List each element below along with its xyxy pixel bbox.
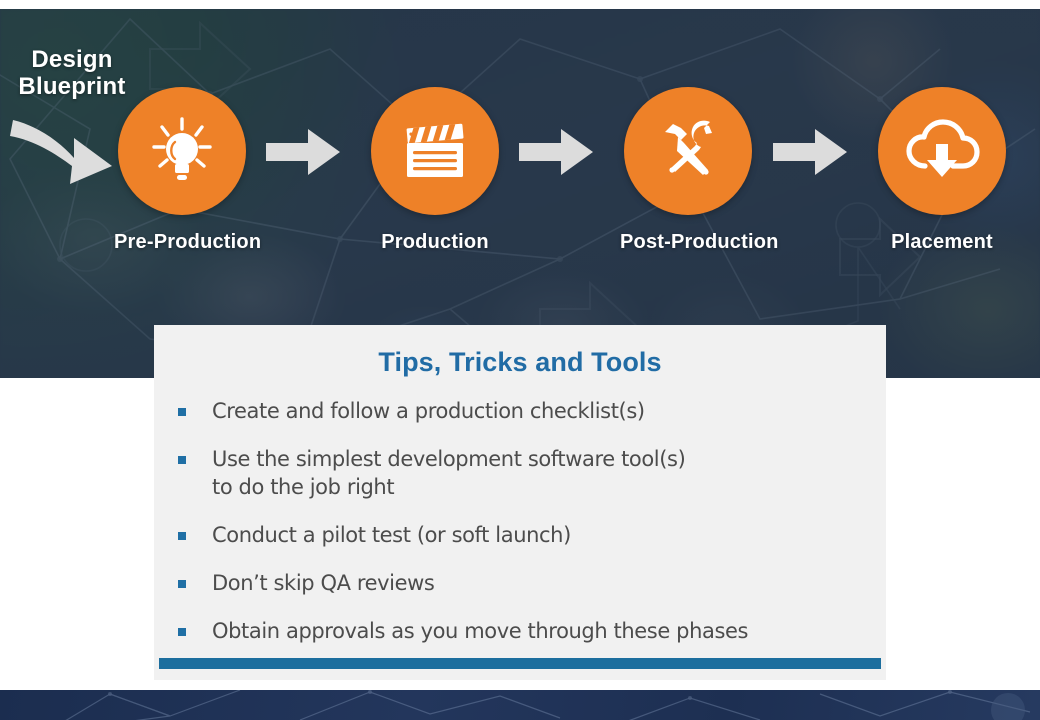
square-bullet-icon <box>178 456 186 464</box>
footer-band <box>0 690 1040 720</box>
stage-label: Post-Production <box>620 231 756 254</box>
square-bullet-icon <box>178 532 186 540</box>
hammer-wrench-icon <box>651 114 725 188</box>
stage-label: Pre-Production <box>114 231 250 254</box>
list-item-text: Don’t skip QA reviews <box>212 570 434 598</box>
list-item: Create and follow a production checklist… <box>154 398 886 426</box>
hero-banner: Design Blueprint <box>0 9 1040 378</box>
card-accent-bar <box>159 658 881 669</box>
lightbulb-icon <box>145 114 219 188</box>
stage-production[interactable]: Production <box>367 87 503 254</box>
stage-icon-circle <box>624 87 752 215</box>
tips-list: Create and follow a production checklist… <box>154 378 886 646</box>
list-item: Obtain approvals as you move through the… <box>154 618 886 646</box>
list-item-text: Create and follow a production checklist… <box>212 398 645 426</box>
stage-pre-production[interactable]: Pre-Production <box>114 87 250 254</box>
list-item: Use the simplest development software to… <box>154 446 886 502</box>
right-arrow-icon <box>266 127 340 177</box>
list-item-text: Obtain approvals as you move through the… <box>212 618 748 646</box>
stage-icon-circle <box>878 87 1006 215</box>
stage-label: Production <box>367 231 503 254</box>
stage-icon-circle <box>371 87 499 215</box>
list-item-text: Use the simplest development software to… <box>212 446 685 502</box>
curved-right-arrow-icon <box>8 114 116 186</box>
stage-post-production[interactable]: Post-Production <box>620 87 756 254</box>
cloud-download-icon <box>903 114 981 188</box>
stage-icon-circle <box>118 87 246 215</box>
right-arrow-icon <box>773 127 847 177</box>
tips-card: Tips, Tricks and Tools Create and follow… <box>154 325 886 680</box>
footer-network-pattern <box>0 690 1040 720</box>
stage-placement[interactable]: Placement <box>874 87 1010 254</box>
card-title: Tips, Tricks and Tools <box>154 325 886 378</box>
square-bullet-icon <box>178 408 186 416</box>
right-arrow-icon <box>519 127 593 177</box>
square-bullet-icon <box>178 628 186 636</box>
top-white-strip <box>0 0 1040 9</box>
list-item-text: Conduct a pilot test (or soft launch) <box>212 522 571 550</box>
stage-label: Placement <box>874 231 1010 254</box>
list-item: Don’t skip QA reviews <box>154 570 886 598</box>
square-bullet-icon <box>178 580 186 588</box>
list-item: Conduct a pilot test (or soft launch) <box>154 522 886 550</box>
clapperboard-icon <box>398 114 472 188</box>
